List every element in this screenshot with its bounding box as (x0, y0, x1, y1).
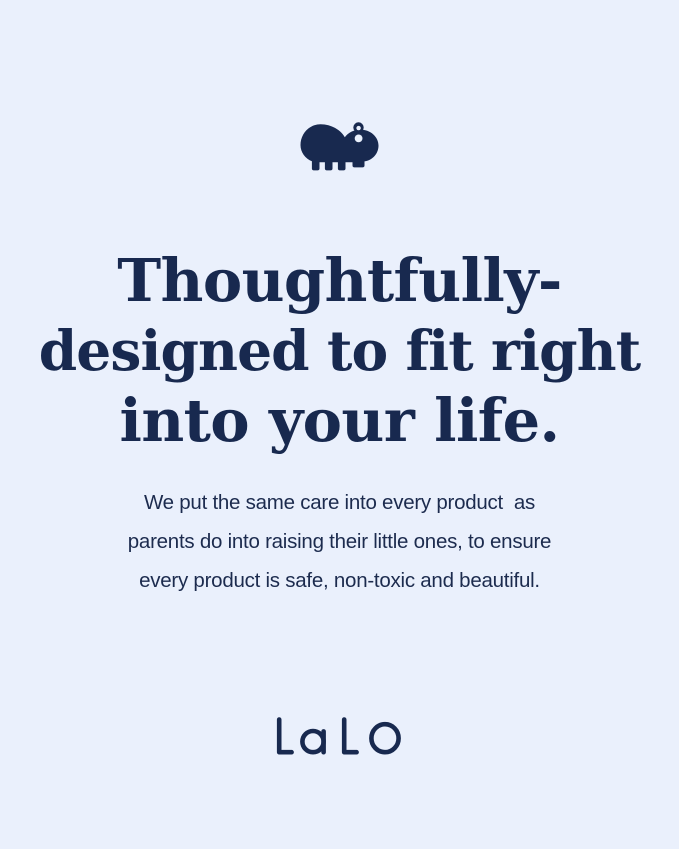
lalo-wordmark-icon (274, 713, 406, 759)
body-line-3: every product is safe, non-toxic and bea… (0, 561, 679, 600)
headline-line-3: into your life. (0, 386, 679, 456)
headline-line-1: Thoughtfully- (0, 246, 679, 316)
body-paragraph: We put the same care into every product … (0, 483, 679, 600)
promo-poster: Thoughtfully- designed to fit right into… (0, 0, 679, 849)
hippo-icon (296, 120, 384, 174)
headline-line-2: designed to fit right (0, 316, 679, 386)
page-title: Thoughtfully- designed to fit right into… (0, 246, 679, 456)
body-line-1: We put the same care into every product … (0, 483, 679, 522)
body-line-2: parents do into raising their little one… (0, 522, 679, 561)
